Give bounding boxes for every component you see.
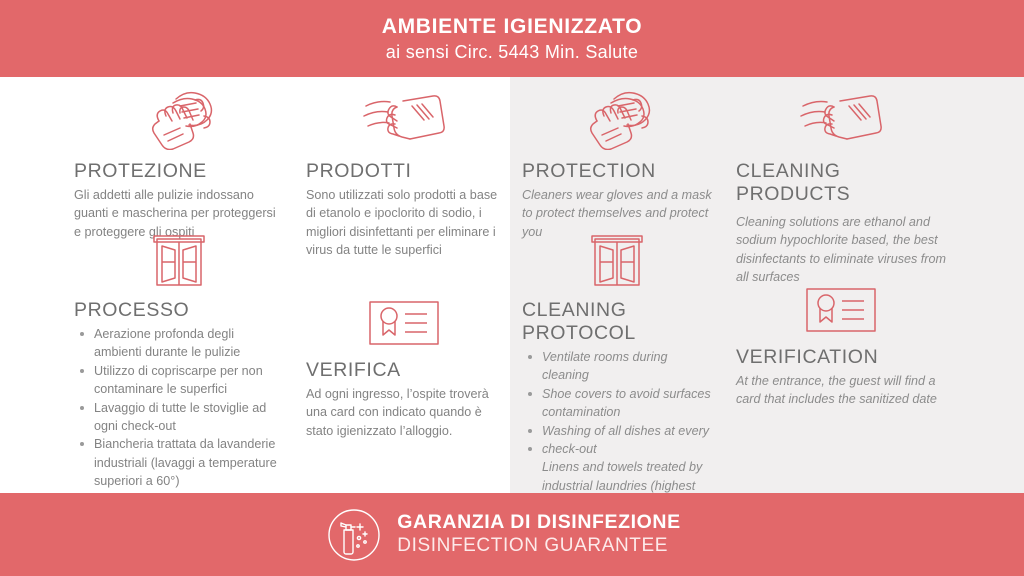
card-cleaning-products: CLEANING PRODUCTS Cleaning solutions are… <box>736 88 946 287</box>
heading-prodotti: PRODOTTI <box>306 160 502 183</box>
card-protezione: PROTEZIONE Gli addetti alle pulizie indo… <box>74 88 284 241</box>
list-item-label: Lavaggio di tutte le stoviglie ad ogni c… <box>94 401 266 433</box>
body-verifica: Ad ogni ingresso, l’ospite troverà una c… <box>306 385 502 440</box>
open-window-icon <box>522 231 712 289</box>
body-verification: At the entrance, the guest will find a c… <box>736 372 946 409</box>
card-cleaning-protocol: CLEANING PROTOCOL Ventilate rooms during… <box>522 231 712 513</box>
list-item-label: Utilizzo di copriscarpe per non contamin… <box>94 364 263 396</box>
body-cleaning-products: Cleaning solutions are ethanol and sodiu… <box>736 213 946 287</box>
wiping-hand-cloth-icon <box>736 88 946 150</box>
card-processo: PROCESSO Aerazione profonda degli ambien… <box>74 231 284 490</box>
list-item-label: Washing of all dishes at every <box>542 424 709 438</box>
list-item: Shoe covers to avoid surfaces contaminat… <box>522 385 712 422</box>
footer-subtitle: DISINFECTION GUARANTEE <box>397 534 680 558</box>
list-item: Washing of all dishes at every <box>522 422 712 440</box>
header-title: AMBIENTE IGIENIZZATO <box>382 15 643 39</box>
bullet-dot <box>80 442 84 446</box>
bullets-processo: Aerazione profonda degli ambienti durant… <box>74 325 284 490</box>
list-item: Aerazione profonda degli ambienti durant… <box>74 325 284 362</box>
heading-protection: PROTECTION <box>522 160 712 183</box>
bullets-cleaning-protocol: Ventilate rooms during cleaningShoe cove… <box>522 348 712 513</box>
footer-title: GARANZIA DI DISINFEZIONE <box>397 511 680 534</box>
card-protection: PROTECTION Cleaners wear gloves and a ma… <box>522 88 712 241</box>
footer-banner: GARANZIA DI DISINFEZIONE DISINFECTION GU… <box>0 493 1024 576</box>
list-item: Utilizzo di copriscarpe per non contamin… <box>74 362 284 399</box>
heading-protezione: PROTEZIONE <box>74 160 284 183</box>
list-item: Biancheria trattata da lavanderie indust… <box>74 435 284 490</box>
bullet-dot <box>528 355 532 359</box>
bullet-dot <box>528 429 532 433</box>
bullet-dot <box>80 406 84 410</box>
card-verification: VERIFICATION At the entrance, the guest … <box>736 284 946 409</box>
wiping-hand-cloth-icon <box>306 88 502 150</box>
open-window-icon <box>74 231 284 289</box>
certificate-card-icon <box>736 284 946 334</box>
list-item-label: Ventilate rooms during cleaning <box>542 350 668 382</box>
list-item: check-out <box>522 440 712 458</box>
header-banner: AMBIENTE IGIENIZZATO ai sensi Circ. 5443… <box>0 0 1024 77</box>
list-item-label: check-out <box>542 442 597 456</box>
content-area: PROTEZIONE Gli addetti alle pulizie indo… <box>0 77 1024 493</box>
list-item-label: Shoe covers to avoid surfaces contaminat… <box>542 387 711 419</box>
gloves-mask-icon <box>522 88 712 150</box>
list-item-label: Aerazione profonda degli ambienti durant… <box>94 327 240 359</box>
heading-verification: VERIFICATION <box>736 346 946 369</box>
gloves-mask-icon <box>74 88 284 150</box>
list-item-label: Biancheria trattata da lavanderie indust… <box>94 437 277 488</box>
list-item: Lavaggio di tutte le stoviglie ad ogni c… <box>74 399 284 436</box>
body-prodotti: Sono utilizzati solo prodotti a base di … <box>306 186 502 260</box>
bullet-dot <box>528 447 532 451</box>
heading-verifica: VERIFICA <box>306 359 502 382</box>
spray-bottle-circle-icon <box>327 508 381 562</box>
infographic-poster: AMBIENTE IGIENIZZATO ai sensi Circ. 5443… <box>0 0 1024 576</box>
heading-cleaning-protocol: CLEANING PROTOCOL <box>522 299 712 345</box>
heading-processo: PROCESSO <box>74 299 284 322</box>
card-verifica: VERIFICA Ad ogni ingresso, l’ospite trov… <box>306 297 502 440</box>
bullet-dot <box>80 332 84 336</box>
card-prodotti: PRODOTTI Sono utilizzati solo prodotti a… <box>306 88 502 260</box>
list-item: Ventilate rooms during cleaning <box>522 348 712 385</box>
header-subtitle: ai sensi Circ. 5443 Min. Salute <box>386 42 638 64</box>
certificate-card-icon <box>306 297 502 347</box>
bullet-dot <box>80 369 84 373</box>
bullet-dot <box>528 392 532 396</box>
heading-cleaning-products: CLEANING PRODUCTS <box>736 160 946 206</box>
